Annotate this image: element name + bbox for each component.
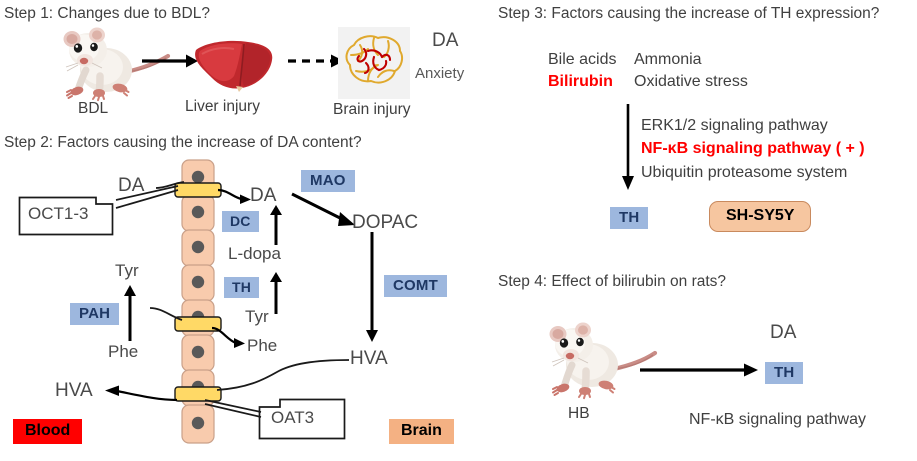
figure-canvas: Step 1: Changes due to BDL?	[0, 0, 917, 461]
liver-label: Liver injury	[185, 98, 260, 116]
callout-oat3-leader	[203, 396, 265, 428]
enzyme-pah: PAH	[70, 303, 119, 325]
callout-oat3-label: OAT3	[271, 408, 314, 428]
hva-influx-line	[213, 358, 351, 396]
step4-outcome-pathway: NF-κB signaling pathway	[689, 411, 866, 429]
callout-oct-label: OCT1-3	[28, 204, 88, 224]
da-influx-arrow	[218, 186, 252, 208]
factor-bilirubin: Bilirubin	[548, 73, 613, 91]
step4-arrow-icon	[640, 361, 758, 379]
molecule-hva-blood: HVA	[55, 380, 93, 402]
brain-label: Brain injury	[333, 101, 411, 119]
da-to-dopac-arrow	[292, 192, 356, 230]
step4-heading: Step 4: Effect of bilirubin on rats?	[498, 273, 726, 291]
step4-outcome-th: TH	[765, 362, 803, 384]
step4-rat-label: HB	[568, 405, 590, 423]
pathway-erk: ERK1/2 signaling pathway	[641, 117, 828, 135]
phe-uptake-line	[150, 306, 184, 326]
dopac-to-hva-arrow	[364, 232, 380, 342]
step1-rat-label: BDL	[78, 100, 108, 118]
molecule-da-brain: DA	[250, 185, 276, 207]
molecule-tyr-blood: Tyr	[115, 261, 139, 281]
step3-down-arrow-icon	[619, 104, 637, 190]
brain-icon	[338, 27, 410, 99]
phe-efflux-arrow	[212, 326, 246, 352]
pathway-nfkb: NF-κB signaling pathway ( + )	[641, 140, 865, 158]
badge-brain: Brain	[389, 419, 454, 444]
enzyme-th-step2: TH	[224, 277, 259, 298]
pathway-ups: Ubiquitin proteasome system	[641, 164, 847, 182]
step1-outcome-da: DA	[432, 30, 458, 52]
step2-heading: Step 2: Factors causing the increase of …	[4, 134, 362, 152]
da-uptake-line	[156, 178, 186, 192]
phe-to-tyr-arrow	[122, 285, 138, 341]
enzyme-dc: DC	[222, 211, 259, 232]
molecule-ldopa: L-dopa	[228, 244, 281, 264]
factor-oxidative-stress: Oxidative stress	[634, 73, 748, 91]
hva-efflux-arrow	[97, 382, 179, 404]
rat-photo-icon-step4	[538, 315, 656, 405]
molecule-dopac: DOPAC	[352, 212, 418, 234]
molecule-tyr-brain: Tyr	[245, 307, 269, 327]
step1-outcome-anxiety: Anxiety	[415, 65, 464, 82]
molecule-hva-brain: HVA	[350, 348, 388, 370]
liver-icon	[190, 36, 276, 98]
ldopa-to-da-arrow	[268, 205, 284, 245]
step4-outcome-da: DA	[770, 322, 796, 344]
enzyme-mao: MAO	[301, 170, 355, 192]
molecule-phe-blood: Phe	[108, 342, 138, 362]
molecule-phe-brain: Phe	[247, 336, 277, 356]
factor-ammonia: Ammonia	[634, 51, 702, 69]
factor-bile-acids: Bile acids	[548, 51, 616, 69]
step3-heading: Step 3: Factors causing the increase of …	[498, 5, 879, 23]
enzyme-th-step3: TH	[610, 207, 648, 229]
cell-line-shsy5y: SH-SY5Y	[709, 201, 811, 232]
tyr-to-ldopa-arrow	[268, 272, 284, 314]
enzyme-comt: COMT	[384, 275, 447, 297]
badge-blood: Blood	[13, 419, 82, 444]
step1-arrow-2-icon	[288, 52, 344, 70]
molecule-da-blood: DA	[118, 175, 144, 197]
